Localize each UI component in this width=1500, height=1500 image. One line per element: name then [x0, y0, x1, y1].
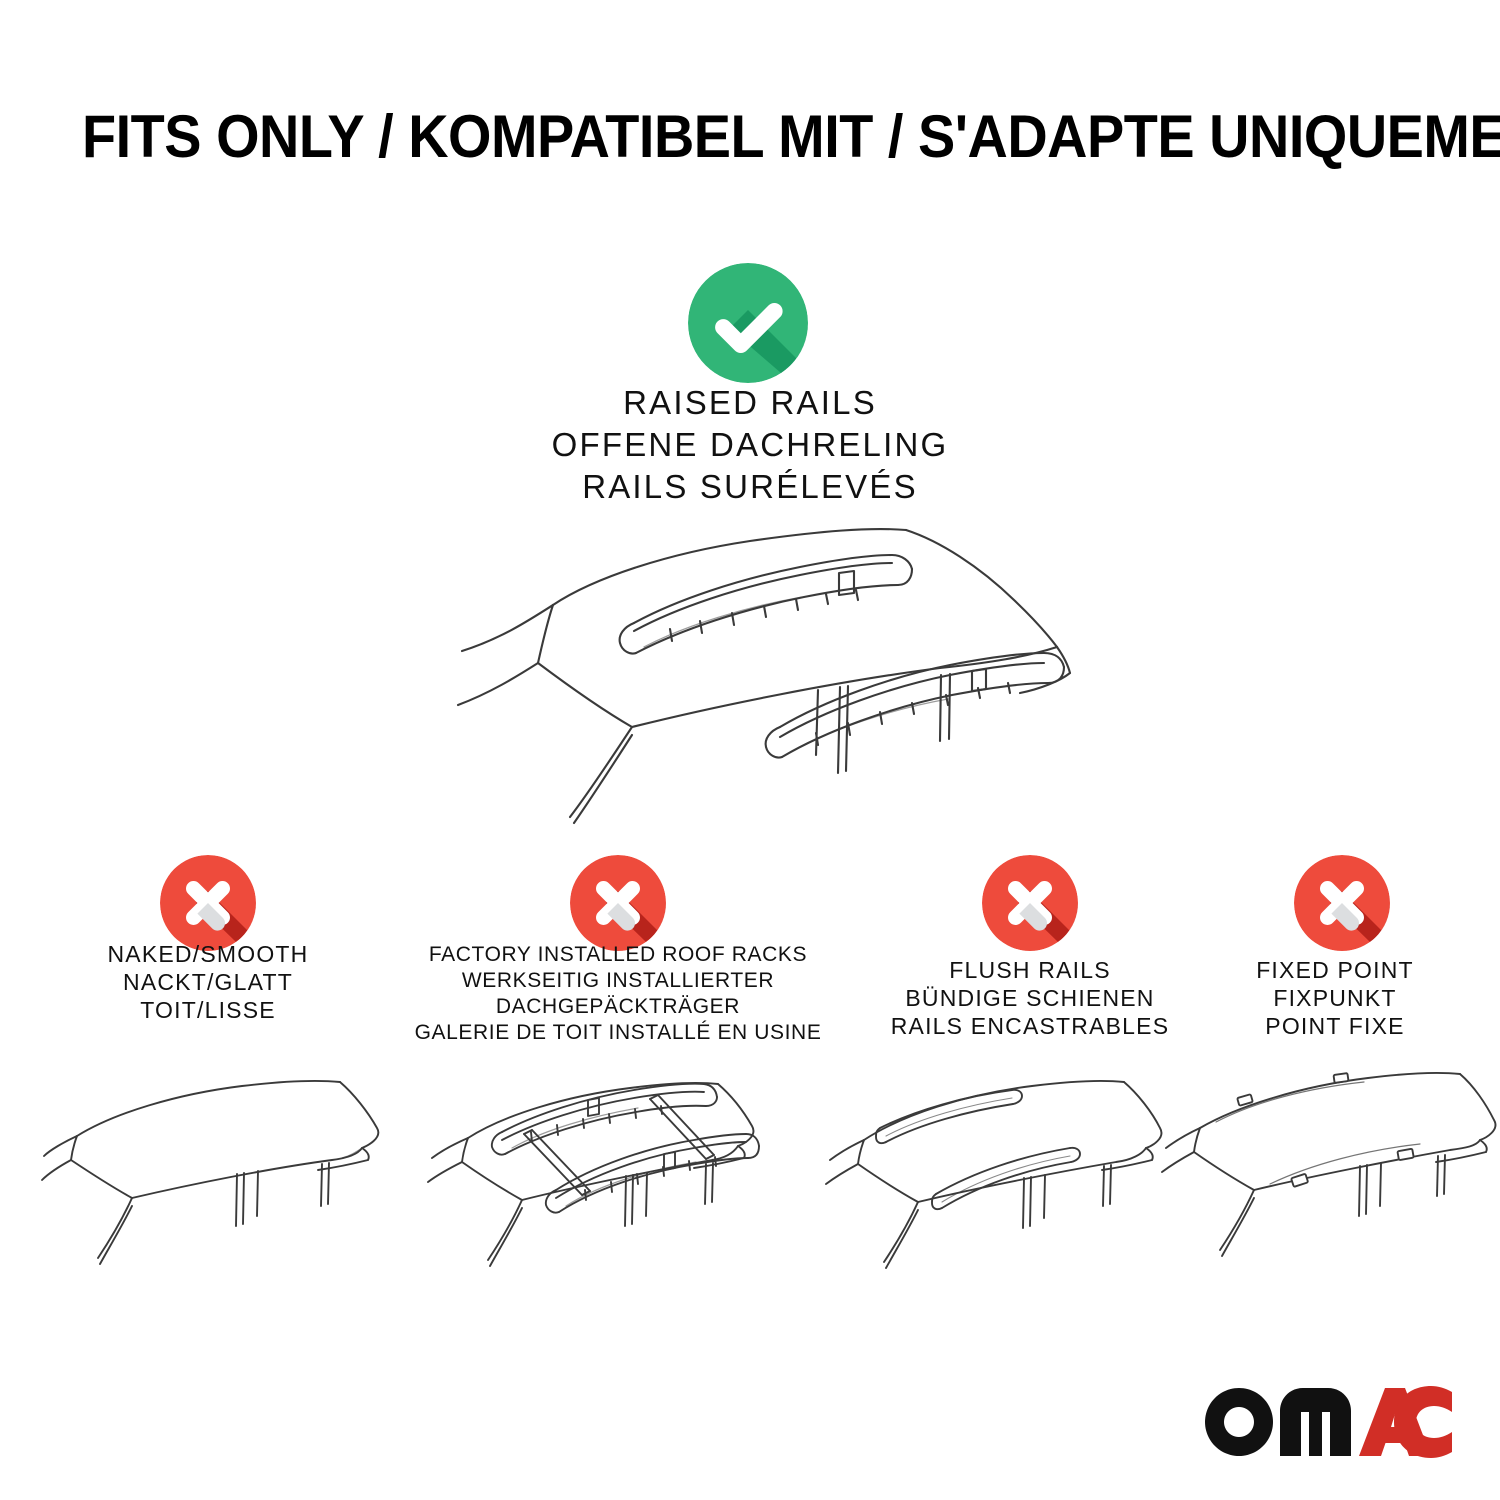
label-en: FACTORY INSTALLED ROOF RACKS — [378, 942, 858, 968]
label-de: FIXPUNKT — [1150, 984, 1500, 1012]
label-de-2: DACHGEPÄCKTRÄGER — [378, 994, 858, 1020]
compatible-label-fr: RAILS SURÉLEVÉS — [250, 466, 1250, 508]
logo-letter-m — [1280, 1388, 1351, 1456]
logo-letter-o — [1205, 1388, 1273, 1456]
label-fr: TOIT/LISSE — [8, 996, 408, 1024]
x-circle-icon — [982, 855, 1078, 951]
x-circle-icon — [160, 855, 256, 951]
car-roof-raised-rails-illustration — [420, 505, 1110, 835]
incompatible-caption-fixed-point: FIXED POINT FIXPUNKT POINT FIXE — [1150, 956, 1500, 1040]
label-de-1: WERKSEITIG INSTALLIERTER — [378, 968, 858, 994]
car-roof-factory-roof-racks-illustration — [406, 1062, 776, 1302]
car-roof-flush-rails-illustration — [816, 1062, 1186, 1302]
omac-logo — [1202, 1382, 1452, 1460]
fitment-infographic: FITS ONLY / KOMPATIBEL MIT / S'ADAPTE UN… — [0, 0, 1500, 1500]
incompatible-caption-naked-smooth: NAKED/SMOOTH NACKT/GLATT TOIT/LISSE — [8, 940, 408, 1024]
label-de: NACKT/GLATT — [8, 968, 408, 996]
x-circle-icon — [1294, 855, 1390, 951]
page-title: FITS ONLY / KOMPATIBEL MIT / S'ADAPTE UN… — [82, 104, 1328, 170]
label-fr: GALERIE DE TOIT INSTALLÉ EN USINE — [378, 1020, 858, 1046]
label-en: FIXED POINT — [1150, 956, 1500, 984]
car-roof-fixed-point-illustration — [1152, 1062, 1500, 1302]
car-roof-naked-smooth-illustration — [32, 1068, 402, 1303]
label-fr: POINT FIXE — [1150, 1012, 1500, 1040]
compatible-label-en: RAISED RAILS — [250, 382, 1250, 424]
compatible-label-de: OFFENE DACHRELING — [250, 424, 1250, 466]
x-circle-icon — [570, 855, 666, 951]
incompatible-caption-factory-roof-racks: FACTORY INSTALLED ROOF RACKS WERKSEITIG … — [378, 942, 858, 1046]
label-en: NAKED/SMOOTH — [8, 940, 408, 968]
check-circle-icon — [688, 263, 808, 383]
compatible-caption: RAISED RAILS OFFENE DACHRELING RAILS SUR… — [250, 382, 1250, 508]
